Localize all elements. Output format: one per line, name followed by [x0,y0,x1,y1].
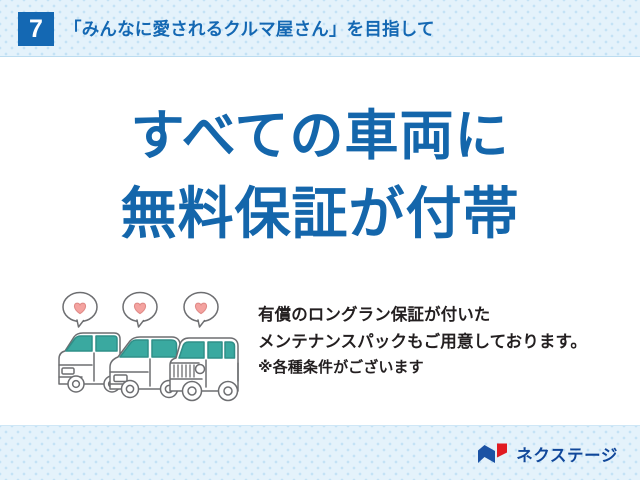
footer-band: ネクステージ [0,425,640,480]
headline-line-2: 無料保証が付帯 [0,187,640,243]
brand-lockup: ネクステージ [478,426,618,480]
brand-name: ネクステージ [516,442,618,466]
main-content: すべての車両に 無料保証が付帯 [0,57,640,425]
section-number-badge: 7 [18,12,54,46]
headline-line-1: すべての車両に [0,109,640,163]
heart-bubble-2 [123,293,157,328]
nextage-n-mark-icon [478,443,508,465]
info-row: 有償のロングラン保証が付いた メンテナンスパックもご用意しております。 ※各種条… [0,289,640,409]
vehicle-suv-jeep [170,338,238,401]
body-text-line-2: メンテナンスパックもご用意しております。 [258,328,587,355]
body-text-line-1: 有償のロングラン保証が付いた [258,301,587,328]
body-text-note: ※各種条件がございます [258,355,587,380]
header-inner: 7 「みんなに愛されるクルマ屋さん」を目指して [18,0,435,57]
cars-illustration [52,289,248,407]
header-title: 「みんなに愛されるクルマ屋さん」を目指して [64,16,435,41]
body-text-block: 有償のロングラン保証が付いた メンテナンスパックもご用意しております。 ※各種条… [258,301,587,380]
heart-bubble-3 [184,293,218,328]
heart-bubble-1 [63,293,97,328]
promo-slide: 7 「みんなに愛されるクルマ屋さん」を目指して すべての車両に 無料保証が付帯 [0,0,640,480]
cars-illustration-svg [52,289,248,407]
header-band: 7 「みんなに愛されるクルマ屋さん」を目指して [0,0,640,57]
